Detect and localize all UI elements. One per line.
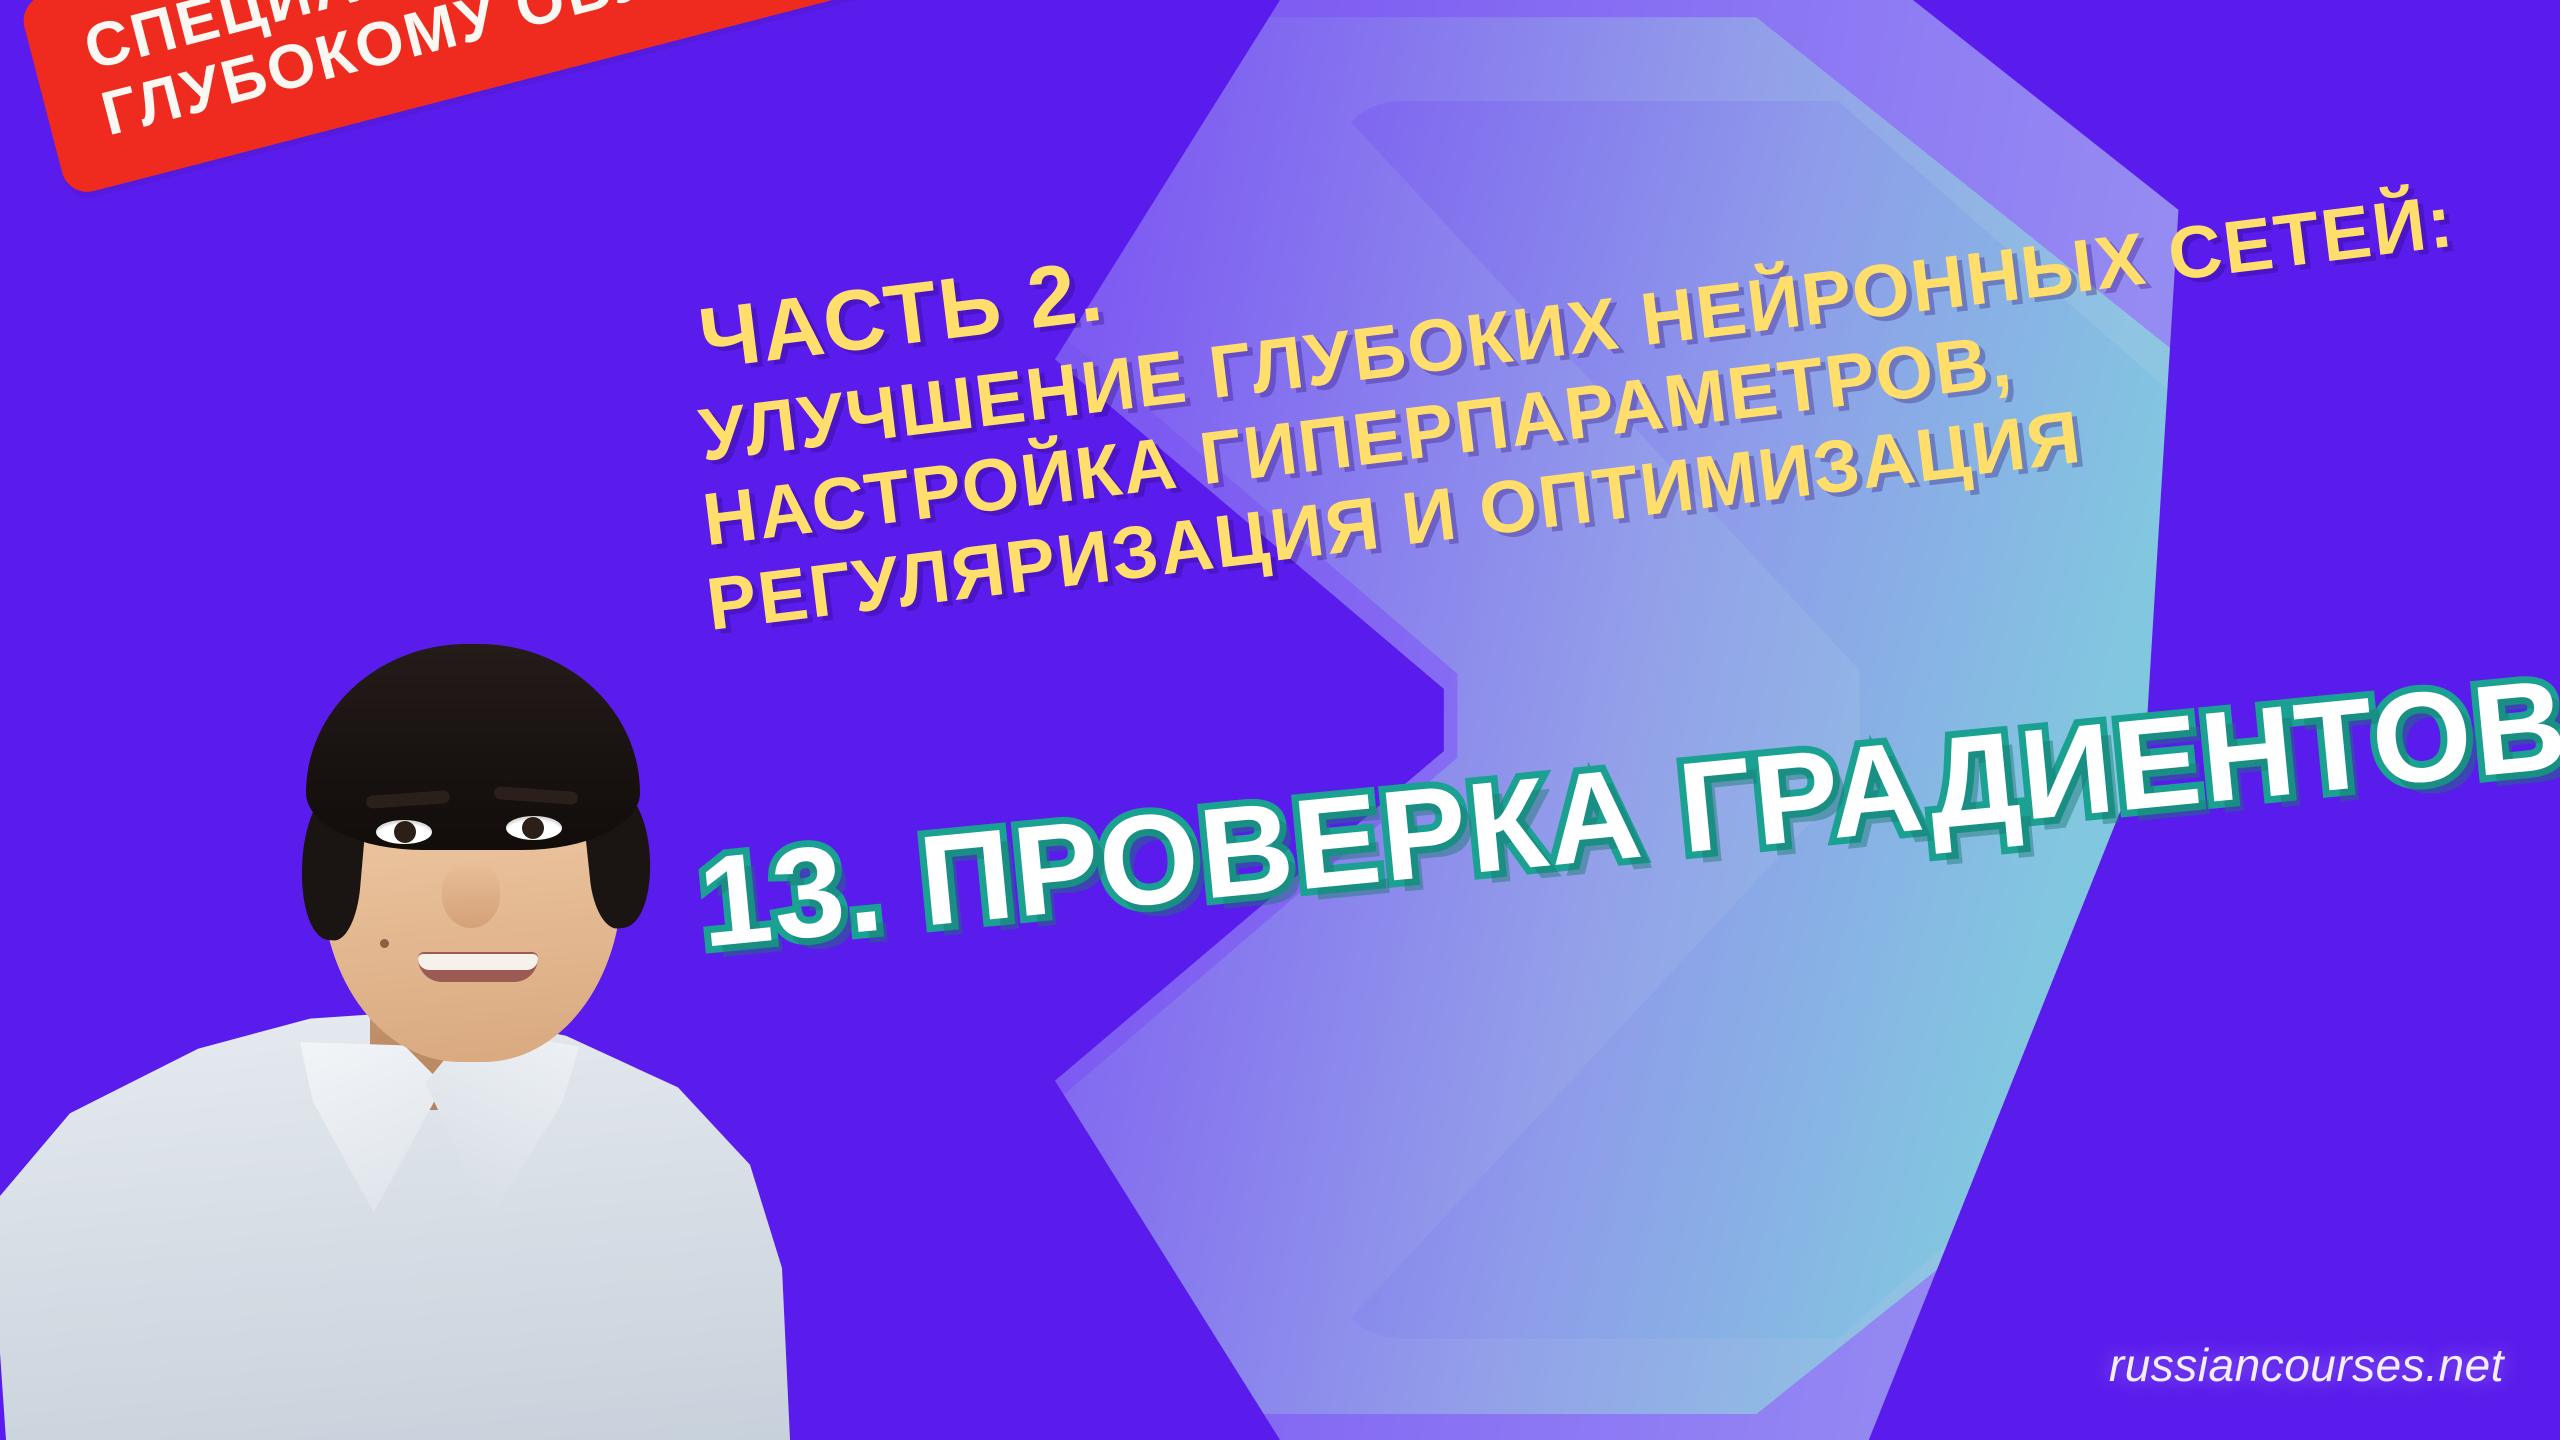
portrait-mole bbox=[380, 939, 389, 948]
portrait-pupil-left bbox=[394, 821, 416, 843]
portrait-hair bbox=[306, 644, 640, 850]
portrait-nose bbox=[442, 864, 500, 928]
portrait-pupil-right bbox=[522, 817, 544, 839]
course-heading-block: ЧАСТЬ 2. УЛУЧШЕНИЕ ГЛУБОКИХ НЕЙРОННЫХ СЕ… bbox=[690, 300, 2290, 598]
instructor-portrait bbox=[70, 330, 790, 1440]
portrait-mouth bbox=[418, 952, 538, 982]
video-thumbnail-canvas: СПЕЦИАЛИЗАЦИЯ ПО ГЛУБОКОМУ ОБУЧЕНИЮ ЧАСТ… bbox=[0, 0, 2560, 1440]
site-watermark: russiancourses.net bbox=[2109, 1338, 2504, 1392]
portrait-teeth bbox=[418, 954, 538, 970]
